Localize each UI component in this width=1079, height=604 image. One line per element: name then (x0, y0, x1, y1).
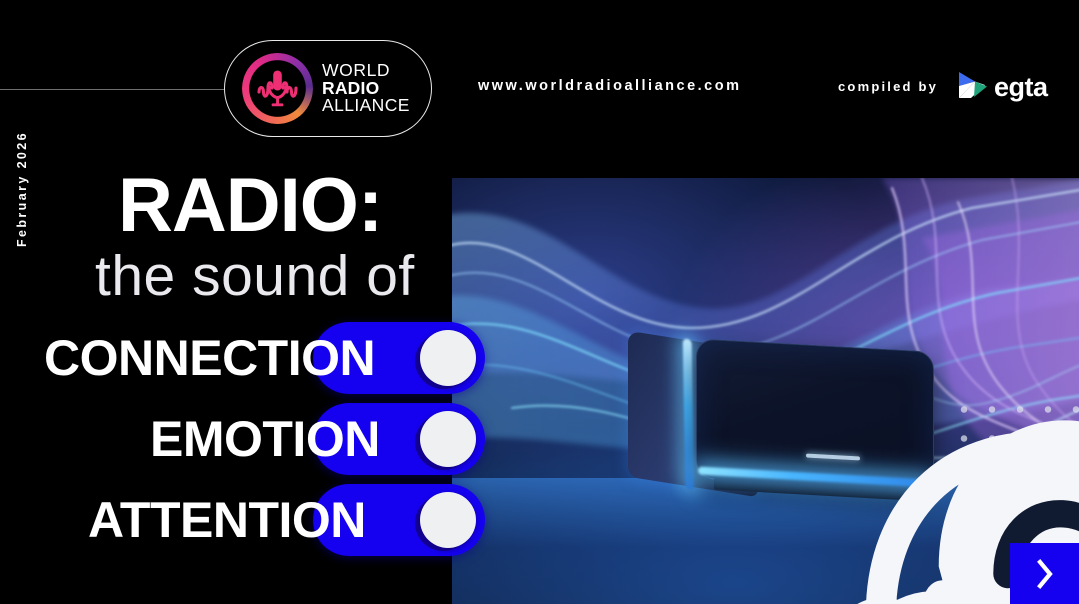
logo-line-3: ALLIANCE (322, 97, 410, 115)
toggle-knob[interactable] (420, 492, 476, 548)
logo-wordmark: WORLD RADIO ALLIANCE (322, 62, 410, 116)
microphone-waveform-icon (242, 53, 313, 124)
issue-date: February 2026 (15, 124, 29, 254)
header-divider-line (0, 89, 228, 90)
slide-canvas: WORLD RADIO ALLIANCE www.worldradioallia… (0, 0, 1079, 604)
website-url[interactable]: www.worldradioalliance.com (478, 78, 741, 94)
next-slide-button[interactable] (1010, 543, 1079, 604)
hero-image (452, 178, 1079, 604)
toggle-label: EMOTION (150, 414, 380, 464)
toggle-label: ATTENTION (88, 495, 366, 545)
world-radio-alliance-logo[interactable]: WORLD RADIO ALLIANCE (224, 40, 432, 137)
toggle-row-attention[interactable]: ATTENTION (0, 484, 490, 556)
compiled-by-label: compiled by (838, 79, 938, 94)
egta-logo[interactable]: egta (957, 70, 1048, 105)
egta-chevron-icon (957, 70, 991, 105)
toggle-knob[interactable] (420, 411, 476, 467)
toggle-knob[interactable] (420, 330, 476, 386)
toggle-list: CONNECTION EMOTION ATTENTION (0, 322, 490, 562)
chevron-right-icon (1035, 558, 1055, 590)
toggle-row-connection[interactable]: CONNECTION (0, 322, 490, 394)
toggle-row-emotion[interactable]: EMOTION (0, 403, 490, 475)
toggle-label: CONNECTION (44, 333, 375, 383)
logo-line-1: WORLD (322, 62, 410, 80)
title-line-1: RADIO: (118, 168, 382, 244)
smart-speaker-device (628, 333, 948, 505)
title-line-2: the sound of (95, 248, 415, 305)
egta-wordmark: egta (994, 72, 1048, 103)
speaker-icon-row (736, 376, 906, 444)
